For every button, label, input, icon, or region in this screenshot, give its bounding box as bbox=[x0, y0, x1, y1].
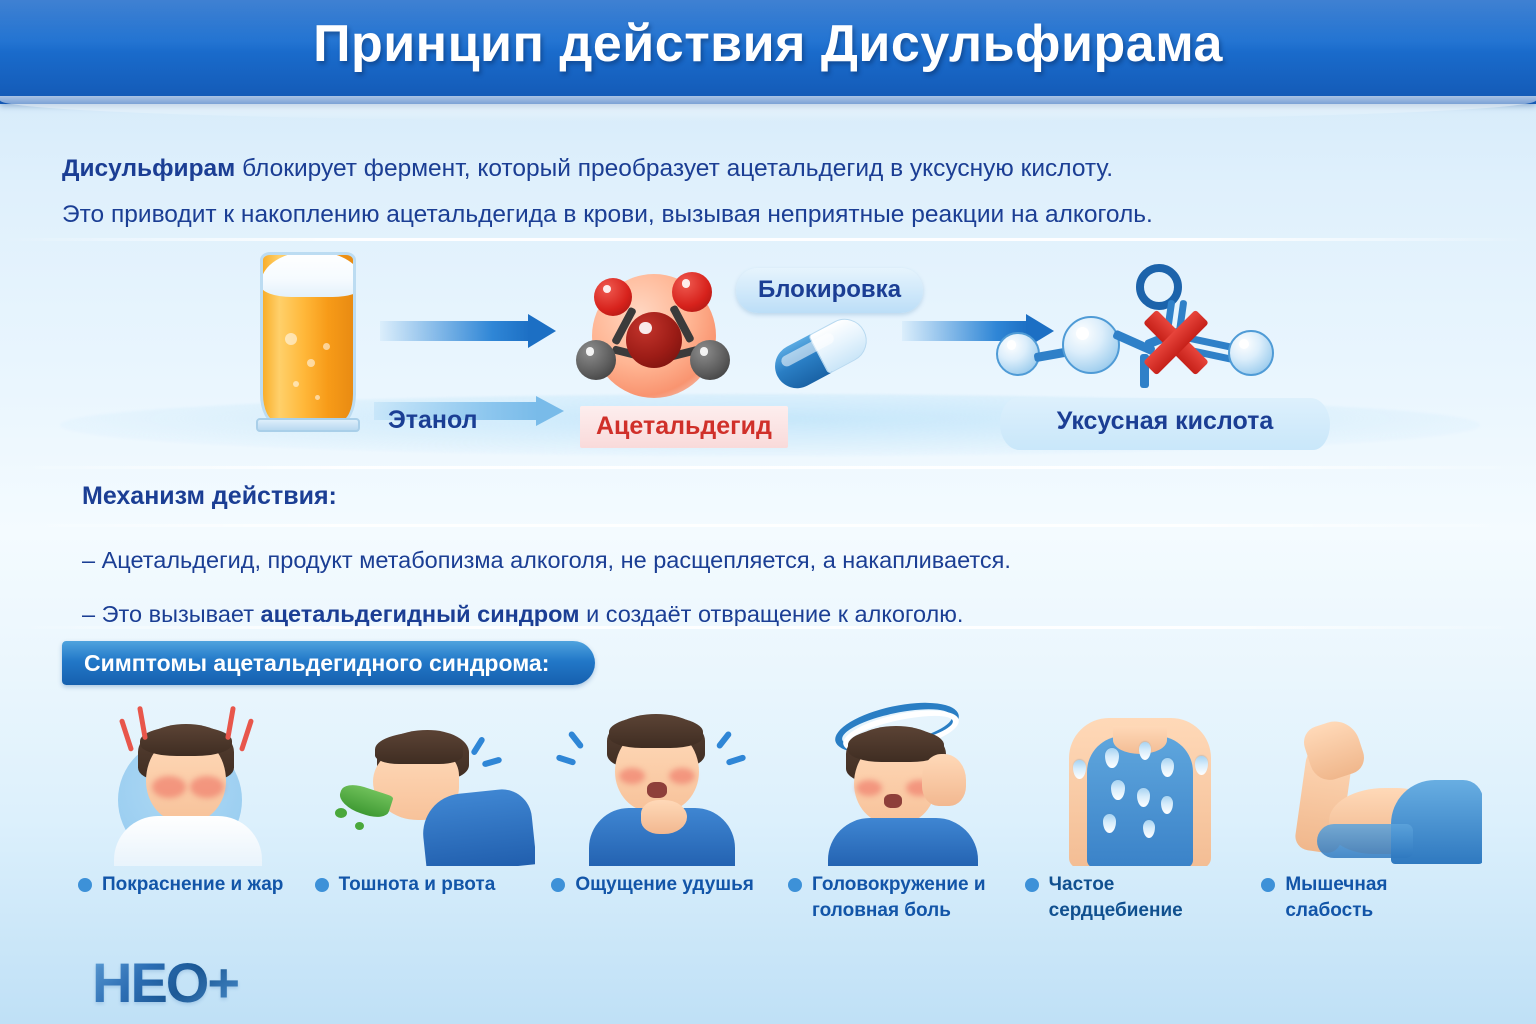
bullet-icon bbox=[551, 878, 565, 892]
symptoms-grid: Покраснение и жар Тошнота и рвота bbox=[62, 696, 1482, 936]
mechanism-list: – Ацетальдегид, продукт метабопизма алко… bbox=[82, 538, 1282, 646]
capsule-pill-icon bbox=[767, 312, 872, 396]
symptom-label-text: Мышечная слабость bbox=[1285, 874, 1387, 921]
acetaldehyde-molecule-icon bbox=[568, 266, 748, 406]
symptoms-banner: Симптомы ацетальдегидного синдрома: bbox=[62, 641, 595, 685]
symptom-label-text: Частое сердцебиение bbox=[1049, 874, 1183, 921]
label-acetic-acid-band: Уксусная кислота bbox=[1000, 398, 1330, 450]
mechanism-item-2-dash: – bbox=[82, 601, 102, 627]
label-acetaldehyde: Ацетальдегид bbox=[580, 406, 788, 448]
label-ethanol: Этанол bbox=[388, 406, 478, 435]
divider-top bbox=[0, 238, 1536, 241]
symptom-label-text: Тошнота и рвота bbox=[339, 874, 496, 895]
bullet-icon bbox=[1025, 878, 1039, 892]
mechanism-item-2-bold: ацетальдегидный синдром bbox=[261, 601, 580, 627]
symptoms-banner-label: Симптомы ацетальдегидного синдрома: bbox=[84, 650, 549, 677]
mechanism-item-1-dash: – bbox=[82, 547, 102, 573]
divider-mechanism bbox=[0, 466, 1536, 469]
label-acetic-acid: Уксусная кислота bbox=[1000, 407, 1330, 436]
mechanism-item-2-pre: Это вызывает bbox=[102, 601, 261, 627]
arrow-ethanol-to-acetaldehyde bbox=[380, 314, 556, 348]
intro-drug-name: Дисульфирам bbox=[62, 155, 235, 182]
bullet-icon bbox=[315, 878, 329, 892]
symptom-label: Ощущение удушья bbox=[551, 872, 769, 898]
bullet-icon bbox=[1261, 878, 1275, 892]
poster-header: Принцип действия Дисульфирама bbox=[0, 0, 1536, 104]
divider-mechanism-2 bbox=[0, 524, 1536, 527]
dizzy-person-icon bbox=[772, 696, 1009, 866]
page-title: Принцип действия Дисульфирама bbox=[0, 14, 1536, 74]
symptom-label: Покраснение и жар bbox=[78, 872, 296, 898]
acetic-acid-molecule-icon bbox=[990, 258, 1280, 408]
symptom-label: Мышечная слабость bbox=[1261, 872, 1479, 924]
mechanism-item-2: – Это вызывает ацетальдегидный синдром и… bbox=[82, 592, 1282, 636]
divider-symptoms bbox=[0, 626, 1536, 629]
symptom-label-text: Ощущение удушья bbox=[575, 874, 754, 895]
brand-logo: НЕО+ bbox=[92, 950, 238, 1015]
header-wave-decoration bbox=[0, 96, 1536, 122]
symptom-label: Головокружение и головная боль bbox=[788, 872, 1006, 924]
intro-text: Дисульфирам блокирует фермент, который п… bbox=[62, 146, 1392, 238]
intro-line-1: Дисульфирам блокирует фермент, который п… bbox=[62, 146, 1392, 192]
flexed-arm-icon bbox=[1245, 696, 1482, 866]
blocking-badge: Блокировка bbox=[736, 268, 923, 313]
mechanism-title: Механизм действия: bbox=[82, 482, 337, 511]
mechanism-item-1-text: Ацетальдегид, продукт метабопизма алкого… bbox=[102, 547, 1011, 573]
symptom-label: Тошнота и рвота bbox=[315, 872, 533, 898]
mechanism-item-1: – Ацетальдегид, продукт метабопизма алко… bbox=[82, 538, 1282, 582]
symptom-card: Покраснение и жар bbox=[62, 696, 299, 936]
intro-line-1-rest: блокирует фермент, который преобразует а… bbox=[235, 155, 1113, 182]
vomiting-person-icon bbox=[299, 696, 536, 866]
bullet-icon bbox=[78, 878, 92, 892]
symptom-label-text: Головокружение и головная боль bbox=[812, 874, 986, 921]
symptom-label-text: Покраснение и жар bbox=[102, 874, 283, 895]
symptom-card: Частое сердцебиение bbox=[1009, 696, 1246, 936]
sweating-torso-icon bbox=[1009, 696, 1246, 866]
symptom-card: Головокружение и головная боль bbox=[772, 696, 1009, 936]
beer-glass-icon bbox=[252, 252, 364, 432]
bullet-icon bbox=[788, 878, 802, 892]
red-cross-icon bbox=[1140, 306, 1212, 378]
choking-person-icon bbox=[535, 696, 772, 866]
intro-line-2: Это приводит к накоплению ацетальдегида … bbox=[62, 192, 1392, 238]
symptom-card: Тошнота и рвота bbox=[299, 696, 536, 936]
mechanism-item-2-post: и создаёт отвращение к алкоголю. bbox=[580, 601, 964, 627]
infographic-poster: Принцип действия Дисульфирама Дисульфира… bbox=[0, 0, 1536, 1024]
symptom-label: Частое сердцебиение bbox=[1025, 872, 1243, 924]
blocking-badge-label: Блокировка bbox=[758, 276, 901, 303]
symptom-card: Мышечная слабость bbox=[1245, 696, 1482, 936]
symptom-card: Ощущение удушья bbox=[535, 696, 772, 936]
flushed-face-icon bbox=[62, 696, 299, 866]
